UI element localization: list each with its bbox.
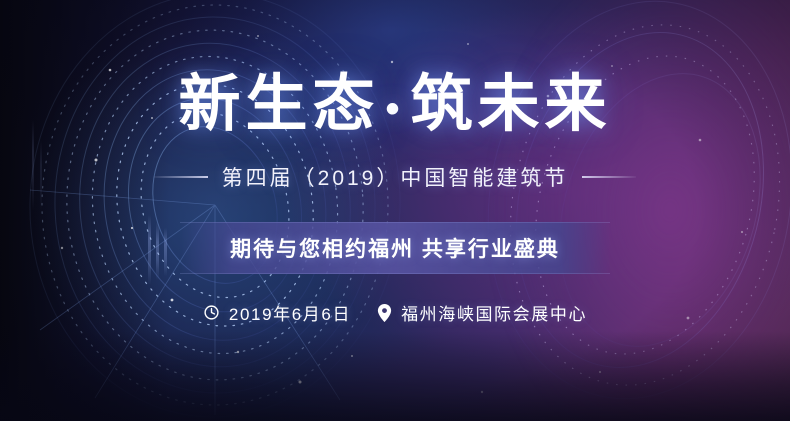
event-poster: 新生态•筑未来 第四届（2019）中国智能建筑节 期待与您相约福州 共享行业盛典… [0,0,790,421]
clock-icon [203,304,220,321]
main-title-separator: • [379,87,410,131]
event-meta-row: 2019年6月6日 福州海峡国际会展中心 [203,300,587,325]
main-title-part2: 筑未来 [411,70,612,139]
subtitle-rule-right [582,176,636,178]
location-pin-icon [377,304,392,322]
subtitle-rule-left [154,176,208,178]
subtitle-text: 第四届（2019）中国智能建筑节 [222,162,569,192]
poster-content: 新生态•筑未来 第四届（2019）中国智能建筑节 期待与您相约福州 共享行业盛典… [0,0,790,421]
event-date-item: 2019年6月6日 [203,300,351,325]
main-title: 新生态•筑未来 [178,74,611,136]
event-venue-item: 福州海峡国际会展中心 [377,300,587,325]
slogan-banner: 期待与您相约福州 共享行业盛典 [180,222,610,274]
slogan-text: 期待与您相约福州 共享行业盛典 [230,233,560,263]
subtitle-row: 第四届（2019）中国智能建筑节 [154,162,637,192]
event-venue-text: 福州海峡国际会展中心 [401,300,587,325]
main-title-part1: 新生态 [178,70,379,139]
event-date-text: 2019年6月6日 [229,300,351,325]
